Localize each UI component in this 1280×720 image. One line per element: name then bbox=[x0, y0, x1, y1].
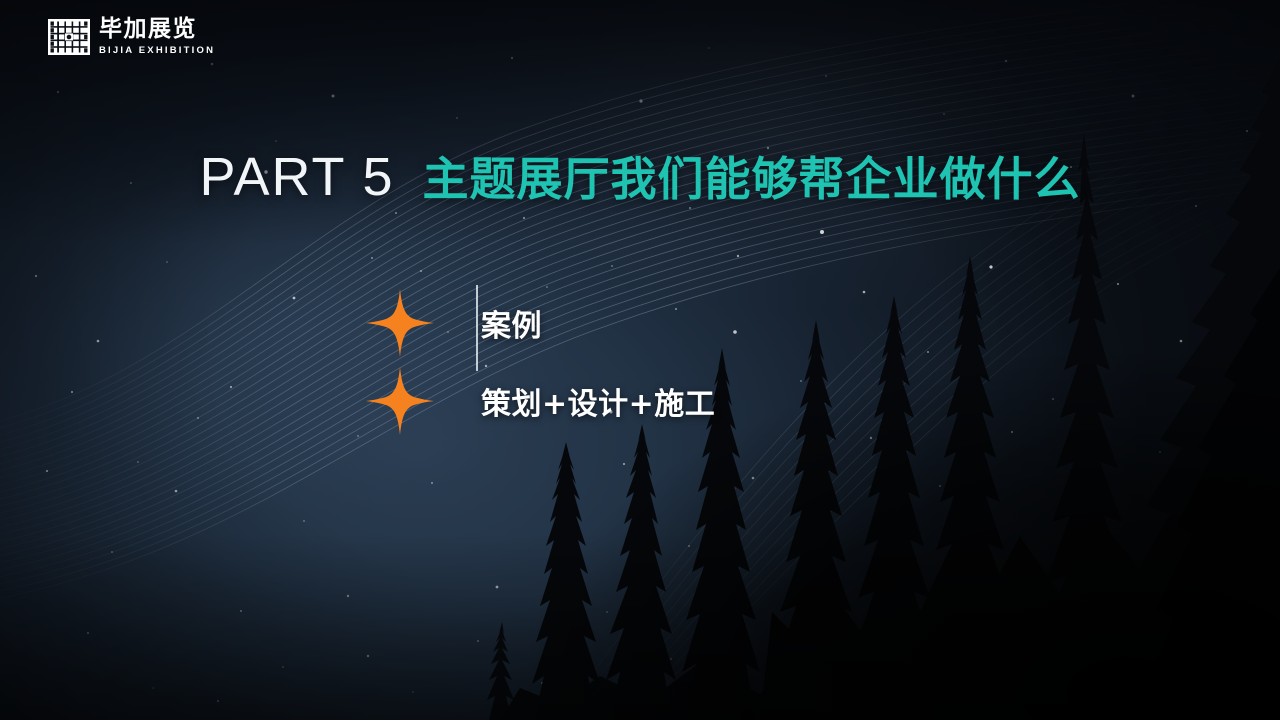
bullet-divider-line bbox=[476, 285, 478, 371]
list-item[interactable]: 案例 bbox=[362, 284, 715, 362]
logo-wordmark: 毕加展览 BIJIA EXHIBITION bbox=[99, 18, 215, 56]
list-item[interactable]: 策划+设计+施工 bbox=[362, 362, 715, 440]
list-item-label: 案例 bbox=[481, 301, 542, 345]
logo-company-name-en: BIJIA EXHIBITION bbox=[99, 46, 215, 56]
bullet-list: 案例 策划+设计+施工 bbox=[362, 284, 715, 440]
four-point-star-icon bbox=[362, 285, 438, 361]
presentation-slide: 毕加展览 BIJIA EXHIBITION PART 5 主题展厅我们能够帮企业… bbox=[0, 0, 1280, 720]
logo-company-name-cn: 毕加展览 bbox=[99, 18, 215, 41]
section-heading-cn: 主题展厅我们能够帮企业做什么 bbox=[423, 143, 1081, 209]
part-number-label: PART 5 bbox=[199, 146, 394, 208]
brand-logo[interactable]: 毕加展览 BIJIA EXHIBITION bbox=[48, 18, 215, 56]
four-point-star-icon bbox=[362, 363, 438, 439]
bijia-be-monogram-icon bbox=[48, 19, 90, 55]
list-item-label: 策划+设计+施工 bbox=[481, 379, 715, 423]
slide-title: PART 5 主题展厅我们能够帮企业做什么 bbox=[0, 143, 1280, 209]
